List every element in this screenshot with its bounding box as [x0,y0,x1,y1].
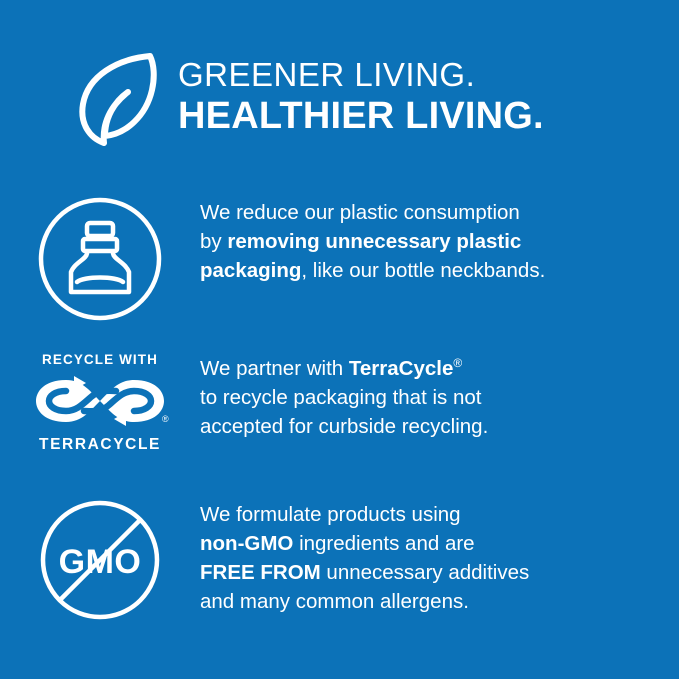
feature-text-line: non-GMO ingredients and are [200,529,655,558]
text-fragment: We reduce our plastic consumption [200,201,520,224]
text-fragment: unnecessary additives [321,561,530,584]
text-fragment: We formulate products using [200,503,461,526]
feature-text-line: We reduce our plastic consumption [200,198,655,227]
feature-icon-slot: GMO [0,498,200,622]
feature-row-plastic: We reduce our plastic consumption by rem… [0,196,679,322]
header: GREENER LIVING. HEALTHIER LIVING. [0,40,679,155]
feature-text-line: packaging, like our bottle neckbands. [200,256,655,285]
terracycle-recycle-icon: RECYCLE WITH ® TERRACYCLE [25,352,175,454]
text-fragment: accepted for curbside recycling. [200,415,488,438]
feature-icon-slot [0,196,200,322]
text-fragment: We partner with [200,357,349,380]
leaf-icon [72,50,164,150]
no-gmo-icon: GMO [38,498,162,622]
terracycle-label-bottom: TERRACYCLE [39,436,161,454]
poster-canvas: GREENER LIVING. HEALTHIER LIVING. We r [0,0,679,679]
text-fragment-bold: removing unnecessary plastic [227,230,521,253]
feature-text-gmo: We formulate products using non-GMO ingr… [200,498,679,616]
infinity-recycle-icon: ® [30,370,170,432]
registered-mark: ® [162,414,169,424]
feature-text-line: by removing unnecessary plastic [200,227,655,256]
text-fragment: , like our bottle neckbands. [301,259,545,282]
feature-text-line: We partner with TerraCycle® [200,354,655,383]
text-fragment: by [200,230,227,253]
feature-text-line: and many common allergens. [200,587,655,616]
feature-text-line: FREE FROM unnecessary additives [200,558,655,587]
text-fragment: to recycle packaging that is not [200,386,481,409]
feature-row-terracycle: RECYCLE WITH ® TERRACYCLE [0,352,679,454]
headline-line-1: GREENER LIVING. [178,58,544,91]
feature-icon-slot: RECYCLE WITH ® TERRACYCLE [0,352,200,454]
feature-text-plastic: We reduce our plastic consumption by rem… [200,196,679,285]
feature-row-gmo: GMO We formulate products using non-GMO … [0,498,679,622]
terracycle-label-top: RECYCLE WITH [42,352,158,367]
feature-text-line: to recycle packaging that is not [200,383,655,412]
text-fragment-bold: non-GMO [200,532,293,555]
headline-line-2: HEALTHIER LIVING. [178,97,544,137]
feature-text-line: accepted for curbside recycling. [200,412,655,441]
headline-block: GREENER LIVING. HEALTHIER LIVING. [178,58,544,137]
registered-mark: ® [453,356,462,370]
text-fragment-bold: TerraCycle [349,357,453,380]
feature-text-terracycle: We partner with TerraCycle® to recycle p… [200,352,679,441]
text-fragment-bold: FREE FROM [200,561,321,584]
bottle-neckband-icon [37,196,163,322]
text-fragment: and many common allergens. [200,590,469,613]
text-fragment: ingredients and are [293,532,474,555]
feature-text-line: We formulate products using [200,500,655,529]
text-fragment-bold: packaging [200,259,301,282]
